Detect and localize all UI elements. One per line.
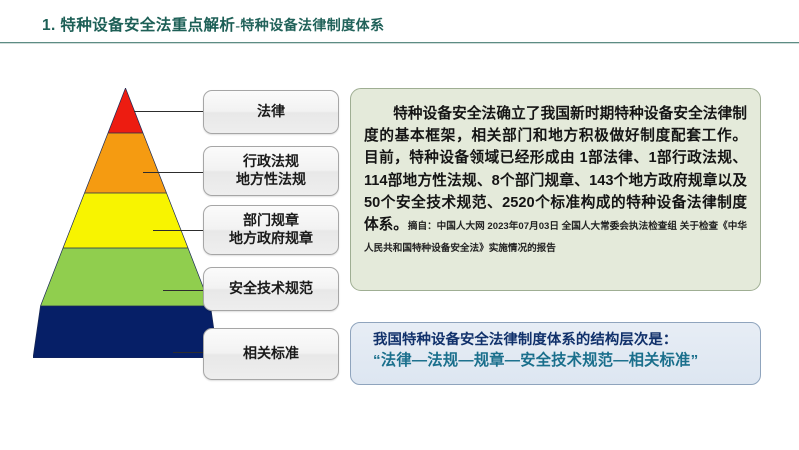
legal-hierarchy-pyramid	[33, 88, 218, 388]
page-title-sub: 特种设备法律制度体系	[240, 19, 384, 34]
pyramid-label-regulations-line2: 地方性法规	[236, 171, 306, 189]
description-source-citation: 摘自：中国人大网 2023年07月03日 全国人大常委会执法检查组 关于检查《中…	[364, 221, 747, 254]
pyramid-label-regulations-text: 行政法规 地方性法规	[236, 153, 306, 189]
conclusion-panel: 我国特种设备安全法律制度体系的结构层次是： “法律—法规—规章—安全技术规范—相…	[350, 322, 761, 385]
pyramid-label-regulations-line1: 行政法规	[236, 153, 306, 171]
connector-line-5	[173, 352, 204, 353]
pyramid-band-level-2	[33, 133, 218, 193]
description-paragraph: 特种设备安全法确立了我国新时期特种设备安全法律制度的基本框架，相关部门和地方积极…	[364, 103, 747, 258]
pyramid-band-level-5-shape	[33, 306, 218, 358]
slide-header: 1. 特种设备安全法重点解析-特种设备法律制度体系	[0, 0, 799, 45]
description-paragraph-text: 特种设备安全法确立了我国新时期特种设备安全法律制度的基本框架，相关部门和地方积极…	[364, 106, 747, 233]
pyramid-label-safety-specs[interactable]: 安全技术规范	[203, 267, 339, 311]
pyramid-label-safety-specs-text: 安全技术规范	[229, 280, 313, 298]
pyramid-label-standards[interactable]: 相关标准	[203, 328, 339, 380]
pyramid-band-level-5	[33, 306, 218, 358]
pyramid-label-rules-line1: 部门规章	[229, 212, 313, 230]
page-title: 1. 特种设备安全法重点解析-特种设备法律制度体系	[42, 13, 384, 35]
connector-line-4	[163, 290, 204, 291]
description-panel: 特种设备安全法确立了我国新时期特种设备安全法律制度的基本框架，相关部门和地方积极…	[350, 88, 761, 291]
pyramid-band-level-4	[33, 248, 218, 306]
pyramid-label-standards-text: 相关标准	[243, 345, 299, 363]
pyramid-band-level-3-shape	[33, 193, 218, 248]
connector-line-2	[143, 172, 204, 173]
pyramid-label-safety-specs-line1: 安全技术规范	[229, 280, 313, 298]
pyramid-label-rules-text: 部门规章 地方政府规章	[229, 212, 313, 248]
connector-line-1	[134, 111, 204, 112]
page-title-main: 1. 特种设备安全法重点解析	[42, 17, 235, 34]
pyramid-label-rules[interactable]: 部门规章 地方政府规章	[203, 205, 339, 255]
pyramid-band-level-3	[33, 193, 218, 248]
pyramid-band-level-2-shape	[33, 133, 218, 193]
pyramid-band-level-4-shape	[33, 248, 218, 306]
pyramid-label-rules-line2: 地方政府规章	[229, 230, 313, 248]
connector-line-3	[153, 230, 204, 231]
pyramid-label-law[interactable]: 法律	[203, 90, 339, 134]
pyramid-label-standards-line1: 相关标准	[243, 345, 299, 363]
title-divider	[0, 42, 799, 44]
conclusion-line-1: 我国特种设备安全法律制度体系的结构层次是：	[373, 330, 750, 350]
pyramid-label-law-text: 法律	[257, 103, 285, 121]
conclusion-line-2: “法律—法规—规章—安全技术规范—相关标准”	[373, 350, 750, 372]
pyramid-label-law-line1: 法律	[257, 103, 285, 121]
pyramid-label-regulations[interactable]: 行政法规 地方性法规	[203, 146, 339, 196]
